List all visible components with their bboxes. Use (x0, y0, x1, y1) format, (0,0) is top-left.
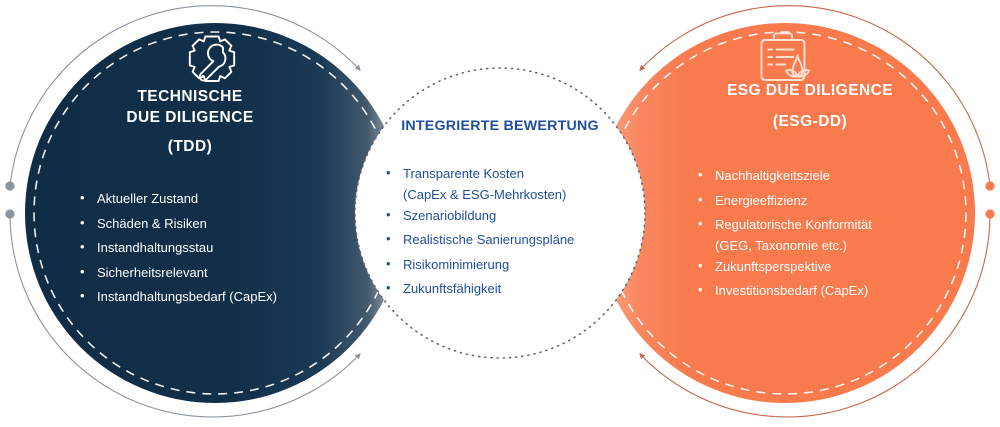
center-overlap-circle (355, 68, 645, 358)
venn-diagram-canvas: TECHNISCHE DUE DILIGENCE (TDD) Aktueller… (0, 0, 1000, 427)
tdd-circle (25, 23, 405, 403)
venn-diagram-svg (0, 0, 1000, 427)
